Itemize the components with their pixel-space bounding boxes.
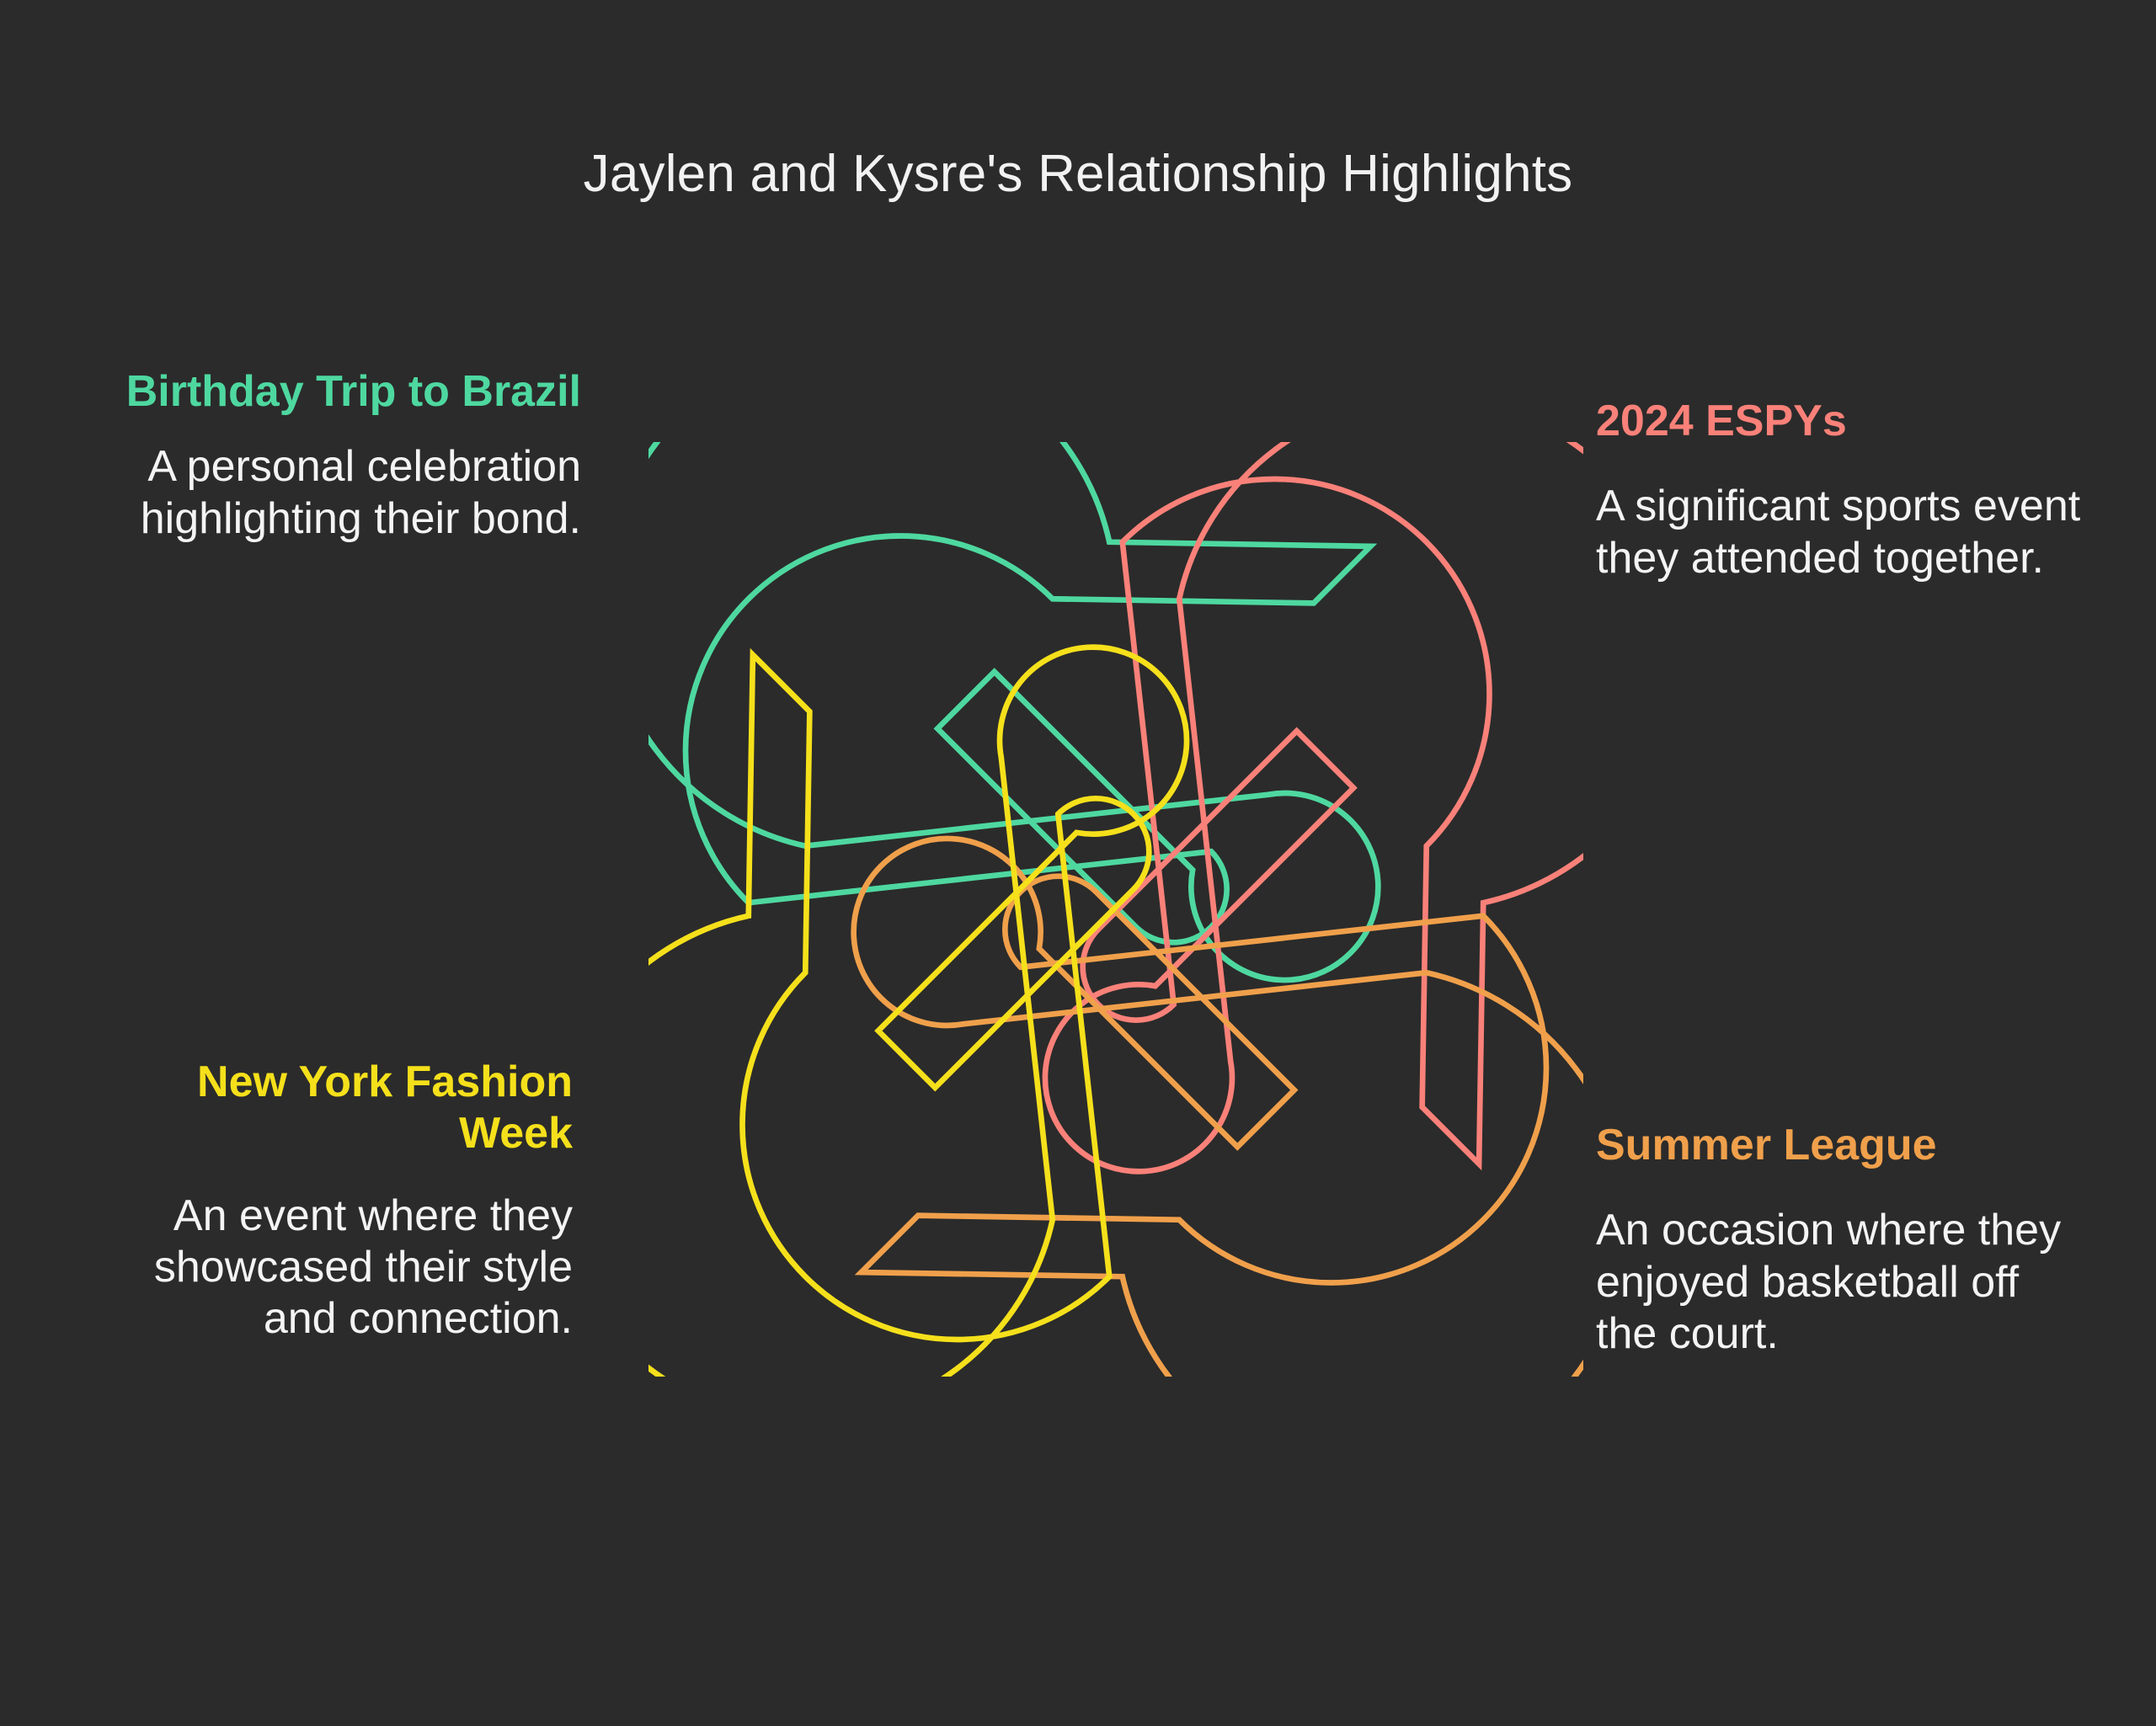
knot-svg bbox=[648, 442, 1583, 1377]
highlight-body-2024-espys: A significant sports event they attended… bbox=[1596, 481, 2084, 584]
highlight-heading-summer-league: Summer League bbox=[1596, 1120, 2084, 1171]
highlight-block-summer-league: Summer League An occasion where they enj… bbox=[1596, 1120, 2084, 1360]
highlight-block-new-york-fashion-week: New York Fashion Week An event where the… bbox=[84, 1057, 573, 1345]
highlight-body-summer-league: An occasion where they enjoyed basketbal… bbox=[1596, 1205, 2084, 1360]
infographic-page: Jaylen and Kysre's Relationship Highligh… bbox=[0, 0, 2156, 1726]
highlight-heading-2024-espys: 2024 ESPYs bbox=[1596, 396, 2084, 447]
highlight-block-birthday-trip-to-brazil: Birthday Trip to Brazil A personal celeb… bbox=[93, 366, 581, 545]
knot-strand-layer bbox=[648, 442, 1583, 1377]
highlight-heading-birthday-trip-to-brazil: Birthday Trip to Brazil bbox=[93, 366, 581, 418]
highlight-body-new-york-fashion-week: An event where they showcased their styl… bbox=[84, 1191, 573, 1345]
highlight-block-2024-espys: 2024 ESPYs A significant sports event th… bbox=[1596, 396, 2084, 584]
highlight-body-birthday-trip-to-brazil: A personal celebration highlighting thei… bbox=[93, 441, 581, 545]
highlight-heading-new-york-fashion-week: New York Fashion Week bbox=[84, 1057, 573, 1160]
interlocking-knot-diagram bbox=[648, 442, 1583, 1377]
page-title: Jaylen and Kysre's Relationship Highligh… bbox=[0, 143, 2156, 205]
